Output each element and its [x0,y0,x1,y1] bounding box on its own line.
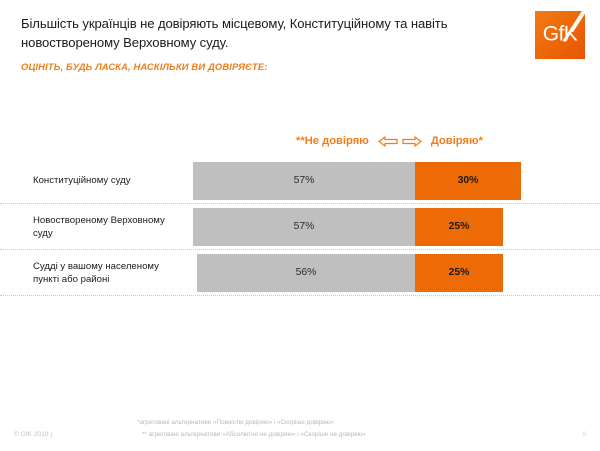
footnote-trust: *агреговані альтернативи «Повністю довір… [137,417,366,429]
table-row: Судді у вашому населеному пункті або рай… [0,250,600,296]
bar-group: 56% 25% [197,254,503,292]
chart-legend: **Не довіряю Довіряю* [296,130,526,152]
copyright: © GfK 2018 | [14,431,52,438]
table-row: Новоствореному Верховному суду 57% 25% [0,204,600,250]
bar-group: 57% 30% [193,162,521,200]
stacked-bar-chart: **Не довіряю Довіряю* Конституційному су [0,130,600,296]
legend-label-distrust: **Не довіряю [296,135,369,147]
row-label: Судді у вашому населеному пункті або рай… [33,260,193,286]
footnote-distrust: ** агреговані альтернативи «Абсолютно не… [142,429,366,441]
bar-trust: 25% [415,254,503,292]
slide-header: Більшість українців не довіряють місцево… [21,14,521,73]
bar-distrust: 56% [197,254,415,292]
logo-text: GfK [535,23,585,47]
arrow-left-outline-icon [378,136,398,147]
bar-value-distrust: 56% [296,267,317,278]
bar-value-trust: 25% [449,221,470,232]
bar-value-distrust: 57% [294,221,315,232]
bar-distrust: 57% [193,208,415,246]
row-label: Конституційному суду [33,174,193,187]
page-subtitle: ОЦІНІТЬ, БУДЬ ЛАСКА, НАСКІЛЬКИ ВИ ДОВІРЯ… [21,61,521,73]
bar-value-trust: 30% [458,175,479,186]
footnotes: *агреговані альтернативи «Повністю довір… [137,417,366,440]
legend-label-trust: Довіряю* [431,135,483,147]
legend-arrows [378,136,422,147]
chart-rows: Конституційному суду 57% 30% Новостворен… [0,158,600,296]
slide: Більшість українців не довіряють місцево… [0,0,600,451]
row-label: Новоствореному Верховному суду [33,214,193,240]
gfk-logo: GfK [535,11,585,59]
bar-value-distrust: 57% [294,175,315,186]
page-number: 9 [582,431,586,438]
bar-group: 57% 25% [193,208,503,246]
bar-trust: 30% [415,162,521,200]
bar-trust: 25% [415,208,503,246]
bar-distrust: 57% [193,162,415,200]
arrow-right-outline-icon [402,136,422,147]
page-title: Більшість українців не довіряють місцево… [21,14,521,52]
bar-value-trust: 25% [449,267,470,278]
table-row: Конституційному суду 57% 30% [0,158,600,204]
